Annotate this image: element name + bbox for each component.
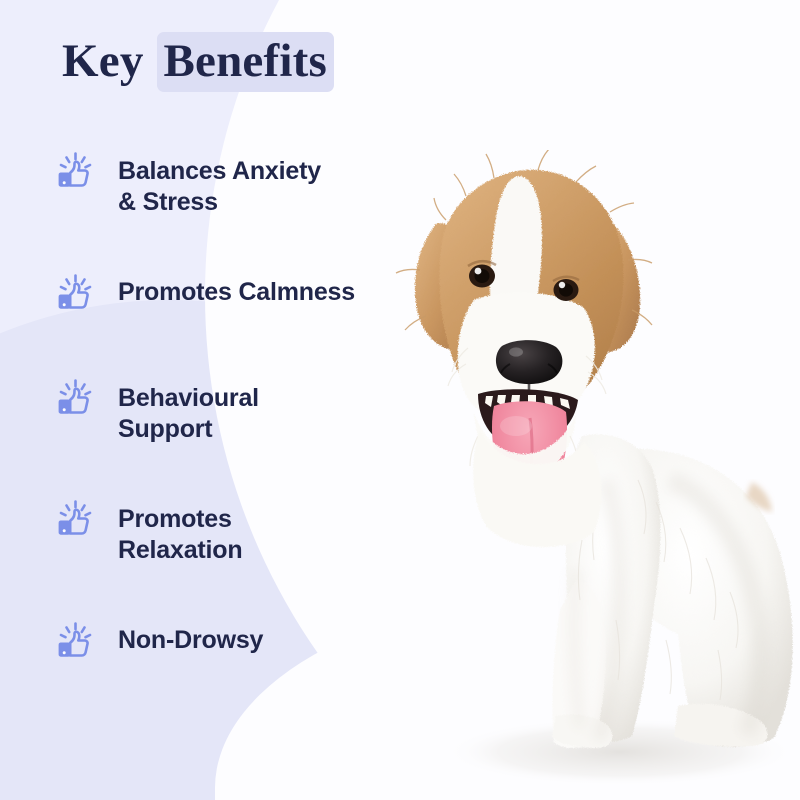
list-item-label: Behavioural Support bbox=[118, 377, 259, 444]
thumbs-up-icon bbox=[52, 273, 98, 319]
list-item: Balances Anxiety & Stress bbox=[52, 150, 397, 217]
key-benefits-graphic: Key Benefits Balan bbox=[0, 0, 800, 800]
thumbs-up-icon bbox=[52, 151, 98, 197]
list-item-label: Balances Anxiety & Stress bbox=[118, 150, 321, 217]
page-title: Key Benefits bbox=[62, 38, 334, 85]
list-item: Behavioural Support bbox=[52, 377, 397, 444]
title-word-benefits-highlighted: Benefits bbox=[157, 32, 333, 92]
thumbs-up-icon bbox=[52, 621, 98, 667]
benefits-list: Balances Anxiety & Stress P bbox=[52, 150, 397, 671]
list-item-label: Promotes Calmness bbox=[118, 271, 355, 308]
thumbs-up-icon bbox=[52, 378, 98, 424]
dog-photo bbox=[370, 150, 800, 800]
list-item: Promotes Relaxation bbox=[52, 498, 397, 565]
list-item: Non-Drowsy bbox=[52, 619, 397, 671]
list-item-label: Promotes Relaxation bbox=[118, 498, 242, 565]
list-item-label: Non-Drowsy bbox=[118, 619, 263, 656]
list-item: Promotes Calmness bbox=[52, 271, 397, 323]
title-word-key: Key bbox=[62, 35, 144, 87]
thumbs-up-icon bbox=[52, 499, 98, 545]
